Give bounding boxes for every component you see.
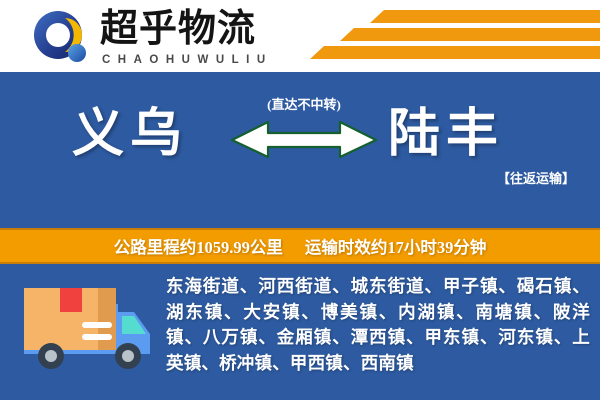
origin-city: 义乌 [72,104,188,166]
destination-city: 陆丰 [388,104,504,166]
banner-header: 超乎物流 CHAOHUWULIU [0,0,600,72]
route-note-direct: (直达不中转) [236,94,372,113]
brand-name-cn: 超乎物流 [100,7,256,51]
route-hero: 义乌 (直达不中转) 【往返运输】 陆丰 [0,72,600,228]
route-arrow-block: (直达不中转) 【往返运输】 [236,86,372,214]
double-headed-arrow-icon [228,116,380,162]
distance-text: 公路里程约1059.99公里 [114,234,283,258]
route-info-bar: 公路里程约1059.99公里 运输时效约17小时39分钟 [0,228,600,264]
coverage-areas-text: 东海街道、河西街道、城东街道、甲子镇、碣石镇、湖东镇、大安镇、博美镇、内湖镇、南… [166,274,590,376]
coverage-section: 东海街道、河西街道、城东街道、甲子镇、碣石镇、湖东镇、大安镇、博美镇、内湖镇、南… [0,264,600,400]
brand-name-en: CHAOHUWULIU [102,54,273,66]
duration-text: 运输时效约17小时39分钟 [305,234,487,258]
circle-crescent-logo-icon [32,9,92,67]
stripe-2 [340,28,600,41]
header-stripes [280,8,600,66]
brand-logo: 超乎物流 CHAOHUWULIU [32,7,282,67]
stripe-3 [310,46,600,59]
logistics-route-banner: 超乎物流 CHAOHUWULIU 义乌 (直达不中转) 【往返运输】 陆丰 公路… [0,0,600,400]
delivery-truck-icon [22,282,152,376]
stripe-1 [370,10,600,23]
